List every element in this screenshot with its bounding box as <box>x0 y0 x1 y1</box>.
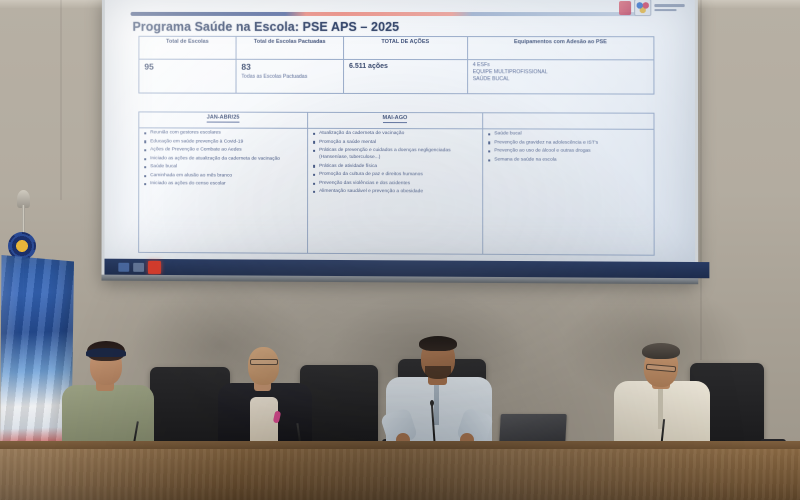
table-row: 95 83 Todas as Escolas Pactuadas 6.511 a… <box>139 59 654 94</box>
panelist-3 <box>386 327 492 449</box>
panel-table-sheen <box>0 449 800 500</box>
table-header-row: Total de Escolas Total de Escolas Pactua… <box>139 36 654 60</box>
slide-logo <box>619 0 685 16</box>
list-item: Saúde bucal <box>143 164 303 172</box>
presentation-slide: Programa Saúde na Escola: PSE APS – 2025… <box>105 0 696 264</box>
cell-equipamentos: 4 ESFs EQUIPE MULTIPROFISSIONAL SAÚDE BU… <box>467 60 654 94</box>
body <box>62 385 154 449</box>
head <box>248 347 279 385</box>
cell-total-acoes: 6.511 ações <box>344 59 468 93</box>
list-item: Ações de Prevenção e Combate ao Aedes <box>143 147 303 154</box>
period-header-blank <box>483 113 654 130</box>
header-total-acoes: TOTAL DE AÇÕES <box>344 36 468 59</box>
list-item: Prevenção da gravidez na adolescência e … <box>487 140 649 147</box>
list-item: Reunião com gestores escolares <box>143 130 303 137</box>
value-equipamentos: 4 ESFs EQUIPE MULTIPROFISSIONAL SAÚDE BU… <box>473 62 649 83</box>
window-icon <box>133 262 144 271</box>
logo-wordmark <box>654 4 684 11</box>
cell-escolas-pactuadas: 83 Todas as Escolas Pactuadas <box>236 59 344 93</box>
header-equipamentos: Equipamentos com Adesão ao PSE <box>467 37 654 60</box>
list-item: Práticas de prevenção e cuidados a doenç… <box>312 148 478 162</box>
window-icon <box>118 262 129 271</box>
list-item: Saúde bucal <box>487 131 649 138</box>
crest-ribbon-icon <box>619 1 631 15</box>
meeting-room-photo: Programa Saúde na Escola: PSE APS – 2025… <box>0 0 800 500</box>
list-item: Caminhada em alusão ao mês branco <box>143 173 303 181</box>
list-item: Semana de saúde na escola <box>487 157 649 165</box>
list-item: Promoção da cultura de paz e direitos hu… <box>312 172 478 180</box>
list-item: Atualização da caderneta de vacinação <box>312 131 478 138</box>
period-actions-table: JAN-ABR/25 MAI-AGO Reunião com gestores <box>138 111 655 255</box>
period-cell-jan-abr: Reunião com gestores escolares Educação … <box>139 128 308 253</box>
slide-title: Programa Saúde na Escola: PSE APS – 2025 <box>133 20 400 34</box>
value-total-escolas: 95 <box>144 62 230 74</box>
cell-total-escolas: 95 <box>139 59 236 93</box>
slide-accent-bar <box>131 12 651 16</box>
laptop <box>499 414 567 444</box>
value-pactuadas: 83 <box>241 62 338 74</box>
projected-slide-area: Programa Saúde na Escola: PSE APS – 2025… <box>104 0 695 266</box>
value-pactuadas-note: Todas as Escolas Pactuadas <box>241 73 338 80</box>
period-header-mai-ago: MAI-AGO <box>308 112 483 128</box>
period-cell-mai-ago: Atualização da caderneta de vacinação Pr… <box>307 128 482 254</box>
period-header-jan-abr: JAN-ABR/25 <box>139 112 308 128</box>
list-item: Prevenção ao uso de álcool e outras drog… <box>487 148 649 156</box>
list-item: Alimentação saudável e prevenção a obesi… <box>312 189 478 197</box>
flag-rosette-icon <box>8 232 36 260</box>
list-item: Iniciado as ações do censo escolar <box>143 181 303 189</box>
beard <box>425 366 451 379</box>
list-item: Promoção a saúde mental <box>312 139 478 146</box>
value-total-acoes: 6.511 ações <box>349 62 462 72</box>
wall-seam <box>700 0 702 360</box>
header-escolas-pactuadas: Total de Escolas Pactuadas <box>236 36 344 59</box>
recording-indicator-icon <box>148 260 161 273</box>
microphone-head-icon <box>430 400 434 406</box>
header-total-escolas: Total de Escolas <box>139 36 236 59</box>
projection-screen: Programa Saúde na Escola: PSE APS – 2025… <box>102 0 699 282</box>
period-cell-extra: Saúde bucal Prevenção da gravidez na ado… <box>483 129 654 255</box>
bullet-list-mai-ago: Atualização da caderneta de vacinação Pr… <box>312 131 478 197</box>
period-header-row: JAN-ABR/25 MAI-AGO <box>139 112 654 129</box>
hair <box>642 343 680 359</box>
bullet-list-extra: Saúde bucal Prevenção da gravidez na ado… <box>487 131 649 164</box>
list-item: Educação em saúde prevenção à Covid-19 <box>143 139 303 146</box>
panelist-1 <box>62 339 154 449</box>
list-item: Prevenção das violências e dos acidentes <box>312 181 478 189</box>
wall-seam <box>60 0 62 200</box>
summary-table: Total de Escolas Total de Escolas Pactua… <box>138 36 654 95</box>
municipal-crest-icon <box>634 0 651 16</box>
list-item: Práticas de atividade física <box>312 163 478 171</box>
hair <box>419 336 457 351</box>
list-item: Iniciado as ações de atualização da cade… <box>143 156 303 163</box>
headband <box>86 348 126 357</box>
bullet-list-jan-abr: Reunião com gestores escolares Educação … <box>143 130 303 189</box>
period-body-row: Reunião com gestores escolares Educação … <box>139 128 654 255</box>
eyeglasses-icon <box>250 359 278 365</box>
